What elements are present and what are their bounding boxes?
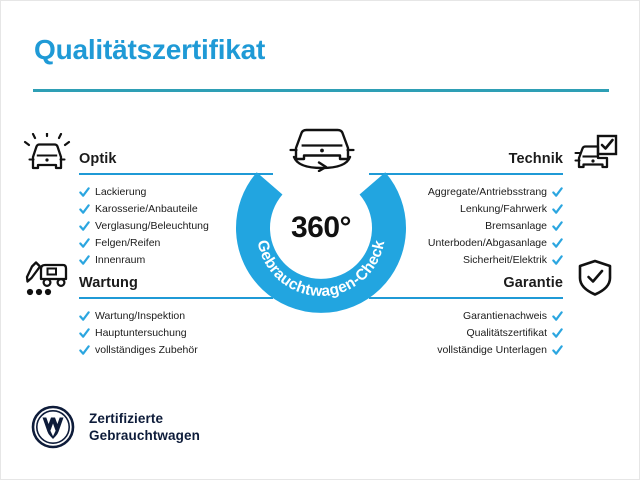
footer-label: Zertifizierte Gebrauchtwagen bbox=[89, 410, 200, 444]
check-icon bbox=[79, 328, 90, 339]
section-title: Optik bbox=[79, 151, 117, 167]
title-divider bbox=[33, 89, 609, 92]
car-shine-icon bbox=[23, 133, 71, 175]
check-icon bbox=[79, 187, 90, 198]
list-item-label: Felgen/Reifen bbox=[95, 235, 160, 252]
check-icon bbox=[79, 238, 90, 249]
check-icon bbox=[79, 311, 90, 322]
page-title: Qualitätszertifikat bbox=[34, 34, 265, 66]
badge-center-label: 360° bbox=[235, 146, 407, 318]
section-title: Wartung bbox=[79, 275, 138, 291]
vw-roundel-icon bbox=[31, 405, 75, 449]
section-title: Garantie bbox=[503, 275, 563, 291]
check-icon bbox=[552, 345, 563, 356]
check-icon bbox=[552, 221, 563, 232]
list-item-label: Aggregate/Antriebsstrang bbox=[428, 184, 547, 201]
list-item-label: Lackierung bbox=[95, 184, 146, 201]
list-item: vollständige Unterlagen bbox=[369, 342, 619, 359]
list-item-label: Verglasung/Beleuchtung bbox=[95, 218, 209, 235]
list-item-label: Wartung/Inspektion bbox=[95, 308, 185, 325]
list-item-label: vollständiges Zubehör bbox=[95, 342, 198, 359]
check-icon bbox=[552, 187, 563, 198]
shield-check-icon bbox=[571, 257, 619, 299]
list-item: vollständiges Zubehör bbox=[23, 342, 273, 359]
badge-360-gebrauchtwagen-check: Gebrauchtwagen-Check 360° bbox=[235, 146, 407, 318]
list-item-label: Lenkung/Fahrwerk bbox=[460, 201, 547, 218]
list-item: Hauptuntersuchung bbox=[23, 325, 273, 342]
check-icon bbox=[79, 204, 90, 215]
list-item-label: Bremsanlage bbox=[485, 218, 547, 235]
car-checkbox-icon bbox=[571, 133, 619, 175]
check-icon bbox=[79, 345, 90, 356]
wrench-car-icon bbox=[23, 257, 71, 299]
list-item-label: Unterboden/Abgasanlage bbox=[428, 235, 547, 252]
check-icon bbox=[79, 221, 90, 232]
list-item-label: Hauptuntersuchung bbox=[95, 325, 187, 342]
list-item-label: Karosserie/Anbauteile bbox=[95, 201, 198, 218]
footer-logo: Zertifizierte Gebrauchtwagen bbox=[31, 405, 200, 449]
check-icon bbox=[552, 204, 563, 215]
section-title: Technik bbox=[509, 151, 563, 167]
check-icon bbox=[552, 328, 563, 339]
list-item-label: Garantienachweis bbox=[463, 308, 547, 325]
list-item: Qualitätszertifikat bbox=[369, 325, 619, 342]
certificate-page: Qualitätszertifikat bbox=[0, 0, 640, 480]
list-item-label: Qualitätszertifikat bbox=[466, 325, 547, 342]
check-icon bbox=[552, 311, 563, 322]
check-icon bbox=[552, 238, 563, 249]
list-item-label: vollständige Unterlagen bbox=[437, 342, 547, 359]
